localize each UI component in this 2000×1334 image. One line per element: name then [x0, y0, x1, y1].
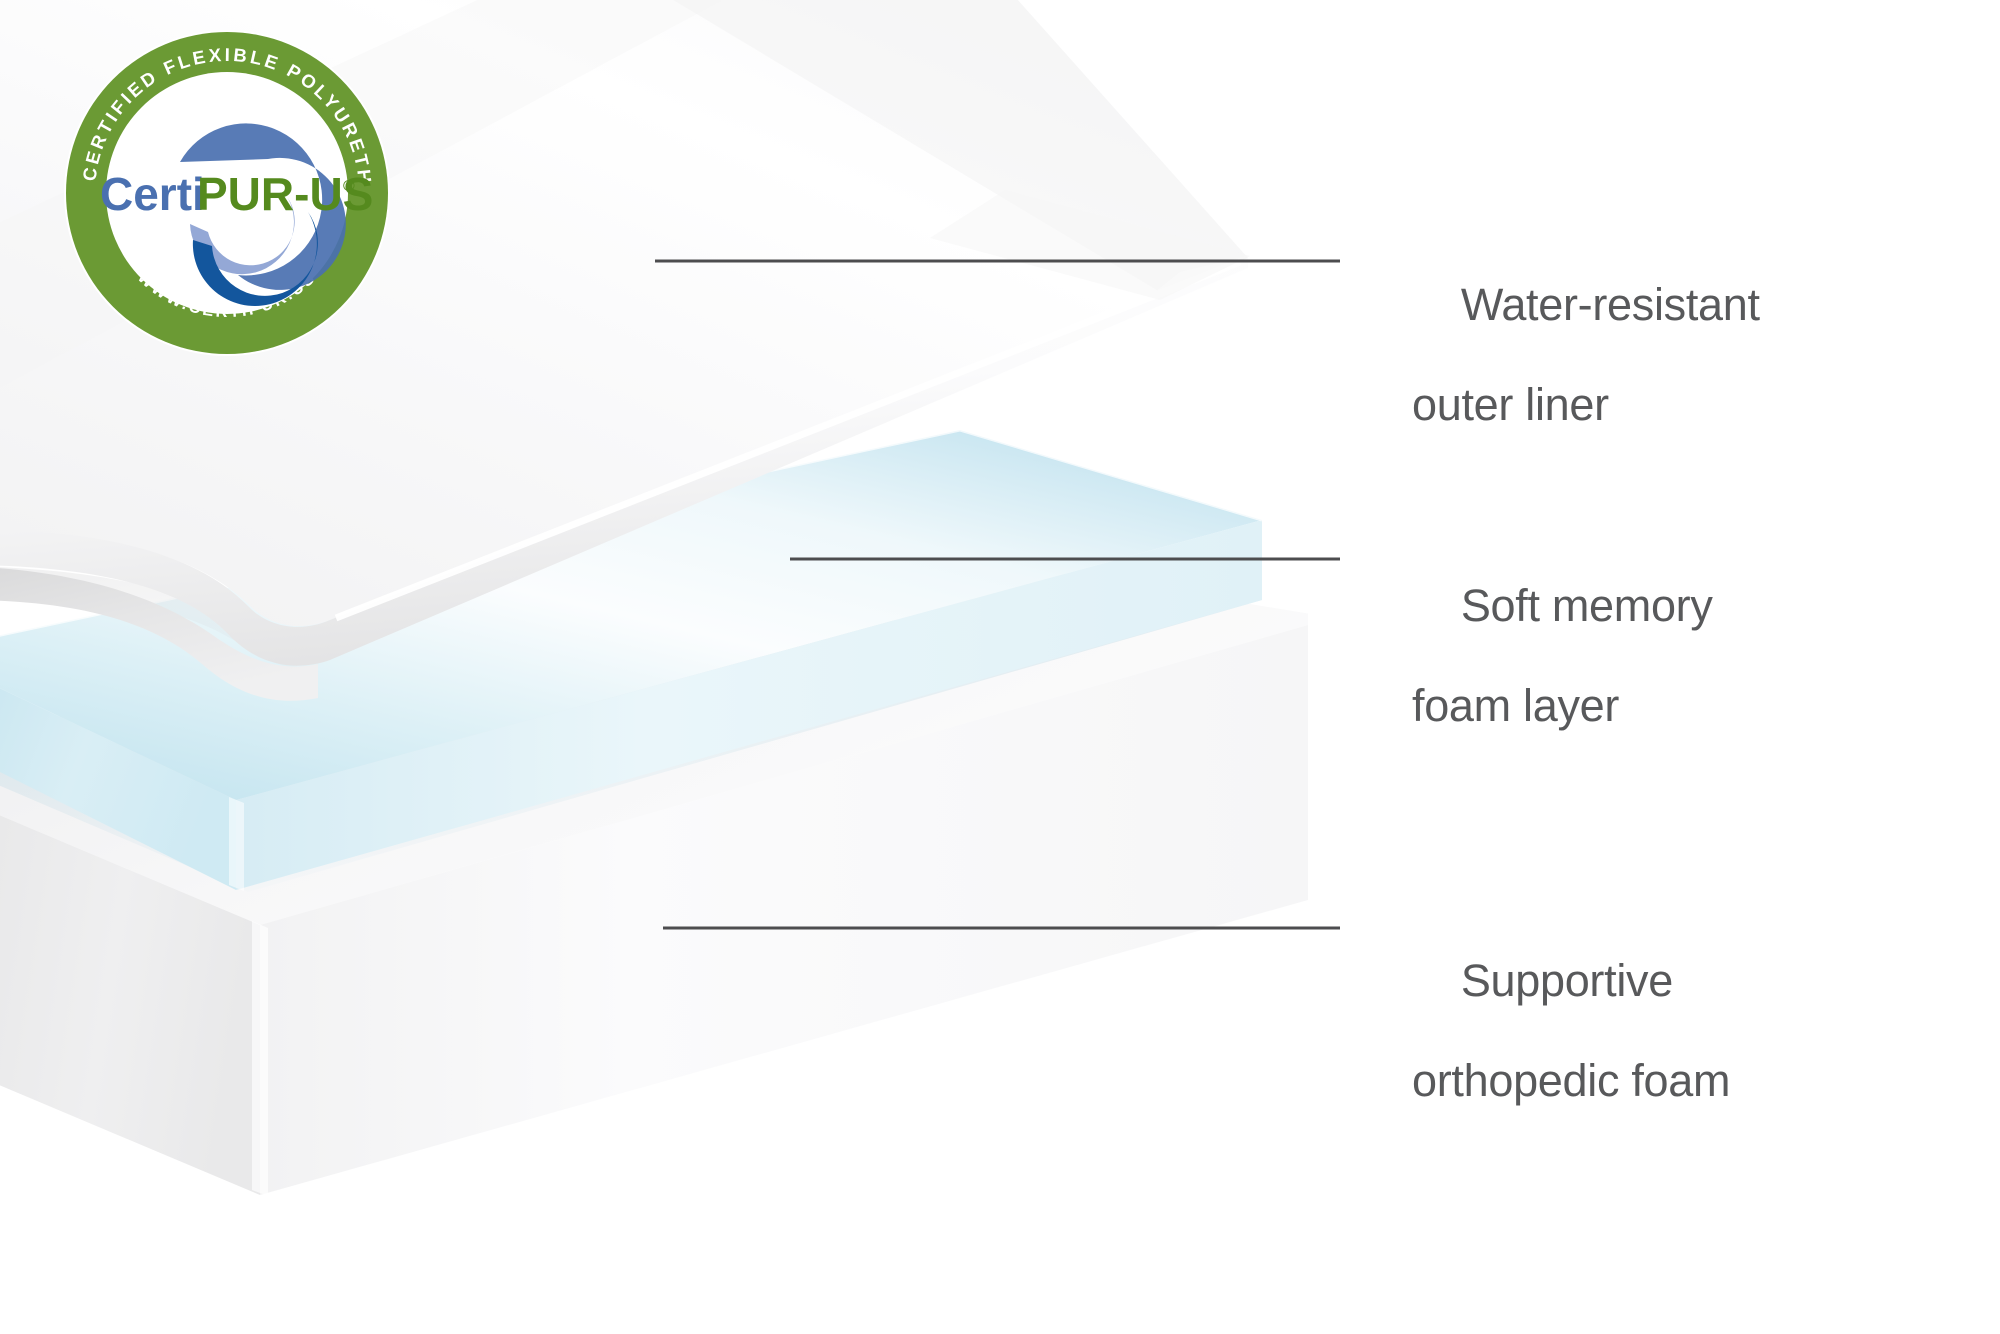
mattress-layers-infographic: CONTAINS CERTIFIED FLEXIBLE POLYURETHANE… — [0, 0, 2000, 1334]
badge-wordmark-certi: Certi — [100, 168, 205, 220]
callout-outer-liner: Water-resistant outer liner — [1412, 230, 1760, 530]
memory-foam-corner-highlight — [229, 797, 244, 891]
orthopedic-foam-corner-highlight — [252, 921, 268, 1196]
certipur-us-seal-graphic: CONTAINS CERTIFIED FLEXIBLE POLYURETHANE… — [62, 28, 392, 358]
callout-memory-foam: Soft memory foam layer — [1412, 531, 1713, 831]
callout-memory-foam-line1: Soft memory — [1461, 580, 1713, 631]
badge-wordmark: Certi PUR-US ® — [100, 168, 373, 220]
callout-orthopedic-foam-line1: Supportive — [1461, 955, 1673, 1006]
callout-orthopedic-foam-line2: orthopedic foam — [1412, 1056, 1730, 1106]
badge-registered-mark: ® — [343, 178, 355, 195]
callout-memory-foam-line2: foam layer — [1412, 681, 1713, 731]
certipur-us-badge: CONTAINS CERTIFIED FLEXIBLE POLYURETHANE… — [62, 28, 392, 358]
callout-orthopedic-foam: Supportive orthopedic foam — [1412, 906, 1730, 1206]
callout-outer-liner-line1: Water-resistant — [1461, 279, 1760, 330]
callout-outer-liner-line2: outer liner — [1412, 380, 1760, 430]
